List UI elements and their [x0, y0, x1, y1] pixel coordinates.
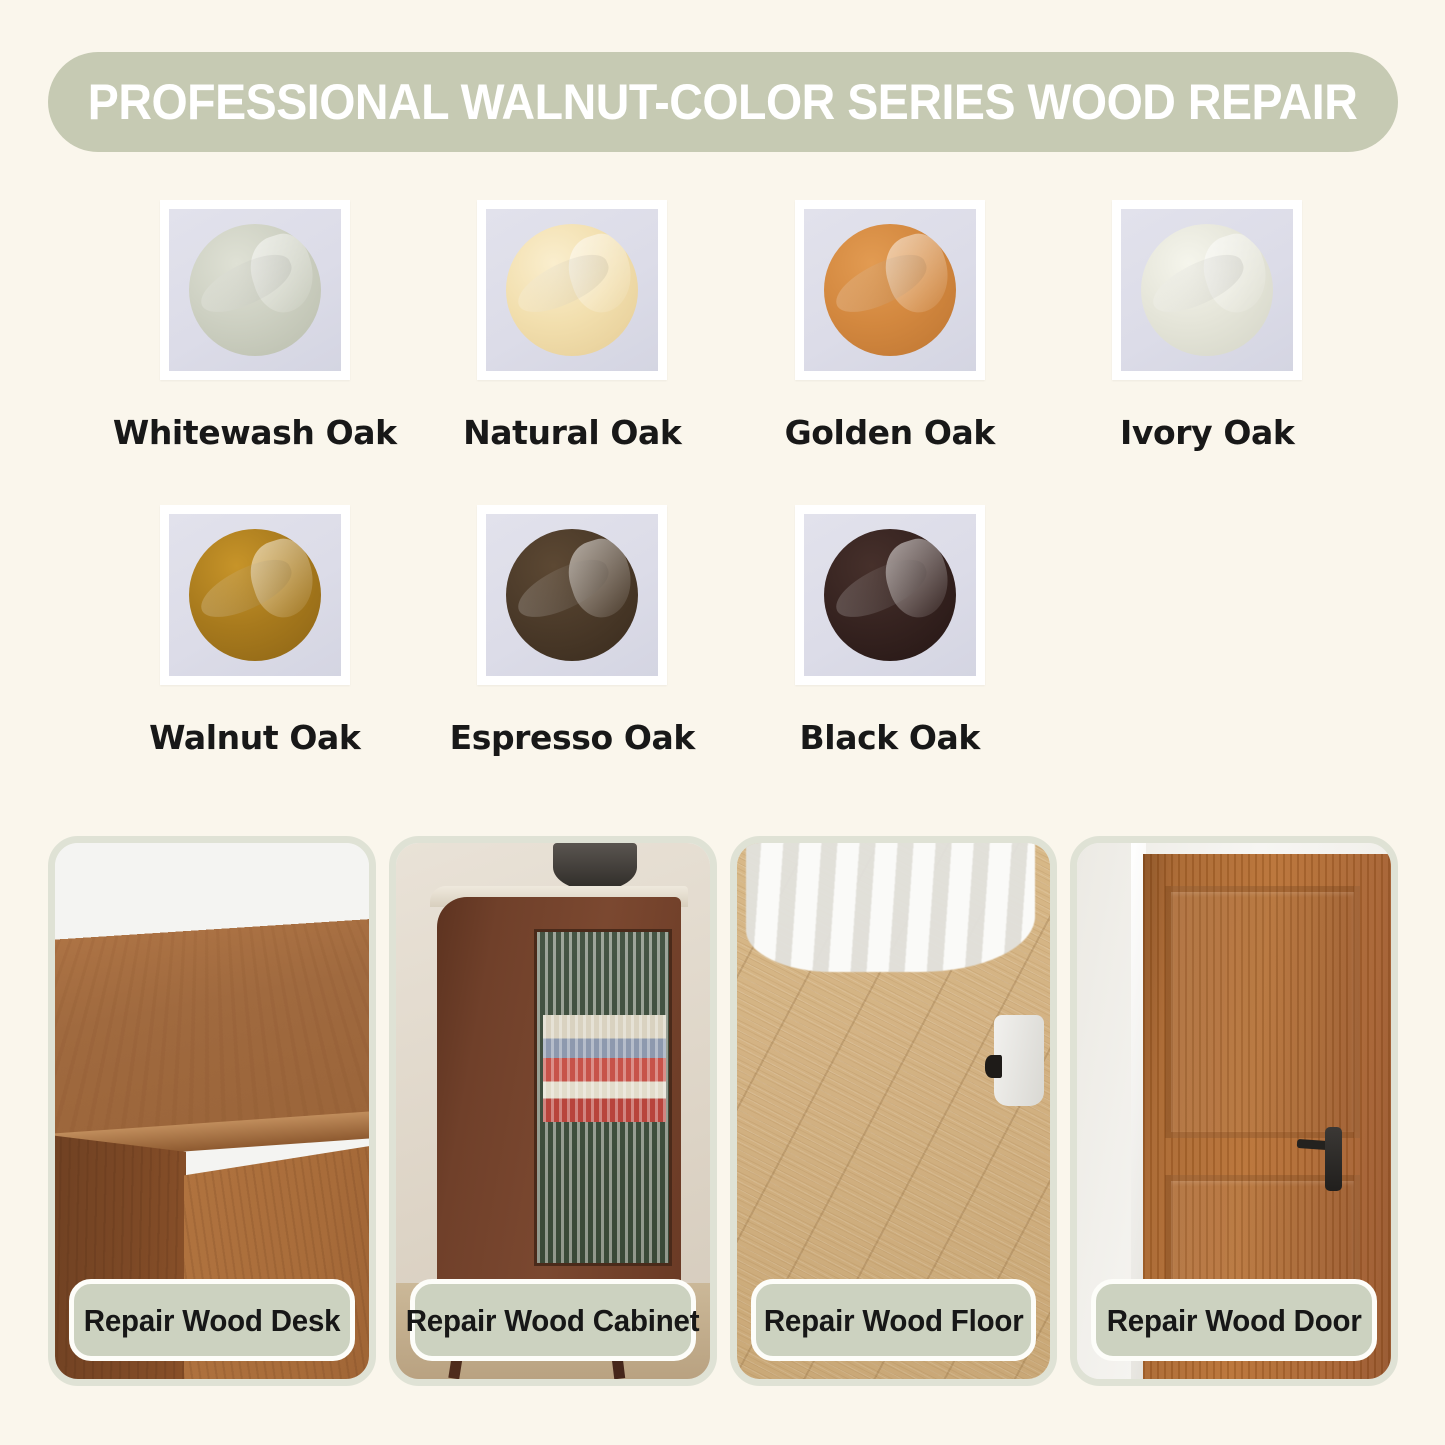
swatch-row-2: Walnut Oak Espresso Oak Black Oak — [96, 505, 1366, 810]
swatch-label: Golden Oak — [785, 416, 995, 449]
swatch-tile-inner — [804, 514, 976, 676]
photo-caption-door: Repair Wood Door — [1091, 1279, 1377, 1361]
color-swatch-grid: Whitewash Oak Natural Oak Golden Oak — [96, 200, 1366, 810]
paste-blob-icon — [189, 529, 321, 661]
photo-card-floor[interactable]: Repair Wood Floor — [730, 836, 1058, 1386]
swatch-item-espresso-oak[interactable]: Espresso Oak — [414, 505, 732, 810]
paste-blob-icon — [189, 224, 321, 356]
photo-card-desk[interactable]: Repair Wood Desk — [48, 836, 376, 1386]
infographic-page: PROFESSIONAL WALNUT-COLOR SERIES WOOD RE… — [0, 0, 1445, 1445]
swatch-tile — [477, 505, 667, 685]
swatch-tile — [477, 200, 667, 380]
swatch-tile-inner — [486, 209, 658, 371]
swatch-tile-inner — [486, 514, 658, 676]
photo-caption-label: Repair Wood Floor — [764, 1305, 1024, 1336]
swatch-cell-empty — [1049, 505, 1367, 810]
paste-blob-icon — [824, 224, 956, 356]
swatch-label: Black Oak — [800, 721, 980, 754]
swatch-label: Natural Oak — [463, 416, 681, 449]
swatch-tile — [160, 200, 350, 380]
swatch-item-black-oak[interactable]: Black Oak — [731, 505, 1049, 810]
swatch-item-natural-oak[interactable]: Natural Oak — [414, 200, 732, 505]
photo-caption-desk: Repair Wood Desk — [69, 1279, 355, 1361]
swatch-tile-inner — [1121, 209, 1293, 371]
swatch-item-walnut-oak[interactable]: Walnut Oak — [96, 505, 414, 810]
photo-caption-label: Repair Wood Desk — [84, 1305, 341, 1336]
swatch-item-ivory-oak[interactable]: Ivory Oak — [1049, 200, 1367, 505]
swatch-tile — [795, 200, 985, 380]
paste-blob-icon — [506, 224, 638, 356]
photo-caption-label: Repair Wood Door — [1107, 1305, 1362, 1336]
swatch-tile-inner — [804, 209, 976, 371]
photo-caption-label: Repair Wood Cabinet — [406, 1305, 700, 1336]
swatch-tile — [1112, 200, 1302, 380]
swatch-item-golden-oak[interactable]: Golden Oak — [731, 200, 1049, 505]
photo-caption-cabinet: Repair Wood Cabinet — [410, 1279, 696, 1361]
swatch-row-1: Whitewash Oak Natural Oak Golden Oak — [96, 200, 1366, 505]
swatch-tile-inner — [169, 514, 341, 676]
paste-blob-icon — [506, 529, 638, 661]
photo-card-cabinet[interactable]: Repair Wood Cabinet — [389, 836, 717, 1386]
swatch-label: Whitewash Oak — [113, 416, 397, 449]
swatch-label: Ivory Oak — [1120, 416, 1294, 449]
application-photo-row: Repair Wood Desk Repair Wood Cabinet — [48, 836, 1398, 1396]
swatch-label: Espresso Oak — [450, 721, 695, 754]
swatch-tile-inner — [169, 209, 341, 371]
photo-card-door[interactable]: Repair Wood Door — [1070, 836, 1398, 1386]
swatch-item-whitewash-oak[interactable]: Whitewash Oak — [96, 200, 414, 505]
photo-caption-floor: Repair Wood Floor — [751, 1279, 1037, 1361]
page-title: PROFESSIONAL WALNUT-COLOR SERIES WOOD RE… — [88, 77, 1358, 127]
swatch-label: Walnut Oak — [149, 721, 360, 754]
swatch-tile — [795, 505, 985, 685]
header-banner: PROFESSIONAL WALNUT-COLOR SERIES WOOD RE… — [48, 52, 1398, 152]
paste-blob-icon — [824, 529, 956, 661]
swatch-tile — [160, 505, 350, 685]
paste-blob-icon — [1141, 224, 1273, 356]
